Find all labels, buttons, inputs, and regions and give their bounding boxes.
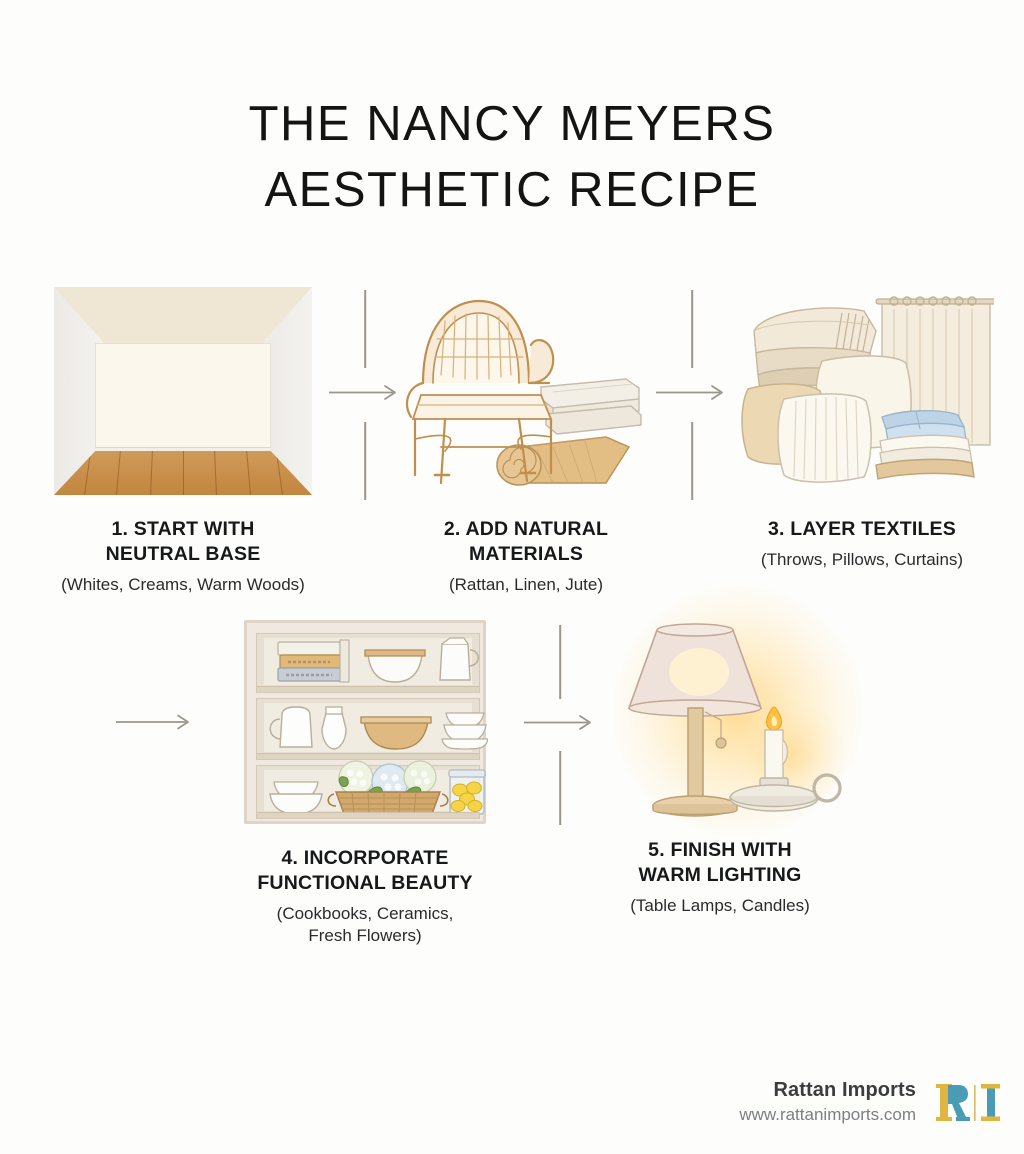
lamp-candle-illustration [575,600,865,828]
step-5-subtitle: (Table Lamps, Candles) [570,895,870,917]
step-4-caption: 4. INCORPORATE FUNCTIONAL BEAUTY (Cookbo… [215,846,515,947]
room-back-wall [95,343,271,451]
lemon-jar [449,770,485,814]
step-5-heading: 5. FINISH WITH WARM LIGHTING [570,838,870,888]
stacked-bowls [442,713,488,749]
footer: Rattan Imports www.rattanimports.com [739,1078,1000,1126]
cookbooks [278,640,349,682]
step-2: 2. ADD NATURAL MATERIALS (Rattan, Linen,… [378,287,674,596]
step-3: 3. LAYER TEXTILES (Throws, Pillows, Curt… [712,287,1012,571]
step-2-heading: 2. ADD NATURAL MATERIALS [378,517,674,567]
divider-line-bottom [559,751,561,825]
step-3-caption: 3. LAYER TEXTILES (Throws, Pillows, Curt… [712,517,1012,571]
step-5: 5. FINISH WITH WARM LIGHTING (Table Lamp… [570,600,870,917]
linen-stack [541,379,641,434]
shelf-row-bottom [256,765,480,819]
step-1-caption: 1. START WITH NEUTRAL BASE (Whites, Crea… [33,517,333,596]
step-4-heading: 4. INCORPORATE FUNCTIONAL BEAUTY [215,846,515,896]
room-wood-floor [54,451,312,495]
step-3-heading: 3. LAYER TEXTILES [712,517,1012,542]
title-line-1: THE NANCY MEYERS [0,92,1024,158]
divider-line-bottom [364,422,366,500]
pillow-ribbed-white [778,394,871,482]
step-4-subtitle: (Cookbooks, Ceramics, Fresh Flowers) [215,903,515,947]
rattan-chair-illustration [401,287,651,495]
step-2-subtitle: (Rattan, Linen, Jute) [378,574,674,596]
nested-bowls [270,782,322,814]
empty-room-illustration [54,287,312,495]
step-4: 4. INCORPORATE FUNCTIONAL BEAUTY (Cookbo… [215,620,515,947]
infographic-page: THE NANCY MEYERS AESTHETIC RECIPE [0,0,1024,1154]
divider-line-top [691,290,693,368]
step-1-heading: 1. START WITH NEUTRAL BASE [33,517,333,567]
open-shelf-illustration [244,620,486,824]
textiles-illustration [730,287,994,495]
table-lamp [629,624,761,816]
arrow-icon [112,712,202,737]
step-1-subtitle: (Whites, Creams, Warm Woods) [33,574,333,596]
pitcher [440,638,478,680]
page-title: THE NANCY MEYERS AESTHETIC RECIPE [0,92,1024,223]
divider-line-top [364,290,366,368]
connector-3-4 [112,712,202,736]
divider-line-top [559,625,561,699]
candle-holder [730,707,840,811]
folded-linen-stack [876,411,974,479]
step-3-subtitle: (Throws, Pillows, Curtains) [712,549,1012,571]
title-line-2: AESTHETIC RECIPE [0,158,1024,224]
shelf-row-middle [256,698,480,760]
divider-line-bottom [691,422,693,500]
mixing-bowl [365,650,425,682]
hydrangea-basket [328,761,448,814]
step-1: 1. START WITH NEUTRAL BASE (Whites, Crea… [33,287,333,596]
jute-rug [497,437,629,485]
brand-name: Rattan Imports [739,1079,916,1102]
step-2-caption: 2. ADD NATURAL MATERIALS (Rattan, Linen,… [378,517,674,596]
ceramic-pitcher [270,707,312,747]
step-5-caption: 5. FINISH WITH WARM LIGHTING (Table Lamp… [570,838,870,917]
shelf-row-top [256,633,480,693]
footer-text: Rattan Imports www.rattanimports.com [739,1079,916,1125]
ceramic-vase [322,707,346,749]
wood-bowl [361,717,431,749]
rattan-imports-logo [934,1078,1000,1126]
brand-url[interactable]: www.rattanimports.com [739,1105,916,1125]
